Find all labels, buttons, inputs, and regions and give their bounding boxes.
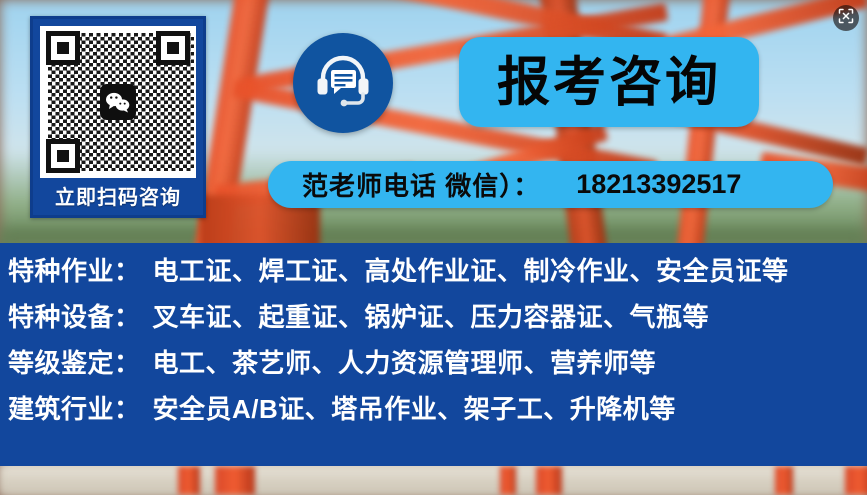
crane-post — [536, 466, 562, 495]
qr-code-image[interactable] — [40, 26, 196, 178]
category-label: 等级鉴定： — [8, 343, 141, 380]
contact-pill[interactable]: 范老师电话 微信）： 18213392517 — [268, 161, 833, 208]
crane-post — [775, 466, 793, 495]
category-label: 特种作业： — [8, 251, 141, 288]
promo-banner: 立即扫码咨询 报考咨询 范老师电话 微信）： 18213392517 — [0, 0, 867, 495]
category-row-special-operations: 特种作业： 电工证、焊工证、高处作业证、制冷作业、安全员证等 — [0, 251, 867, 297]
course-categories-panel: 特种作业： 电工证、焊工证、高处作业证、制冷作业、安全员证等 特种设备： 叉车证… — [0, 243, 867, 466]
qr-code-card[interactable]: 立即扫码咨询 — [30, 16, 206, 218]
crane-post — [845, 466, 867, 495]
contact-phone-number[interactable]: 18213392517 — [576, 169, 741, 200]
qr-card-caption: 立即扫码咨询 — [40, 178, 196, 219]
headset-support-icon — [314, 53, 372, 114]
contact-label: 范老师电话 微信）： — [302, 166, 540, 203]
crane-post — [178, 466, 200, 495]
scan-fullscreen-icon — [838, 8, 854, 29]
qr-finder-icon — [46, 31, 80, 65]
category-row-special-equipment: 特种设备： 叉车证、起重证、锅炉证、压力容器证、气瓶等 — [0, 297, 867, 343]
qr-finder-icon — [156, 31, 190, 65]
crane-post — [215, 466, 255, 495]
category-label: 特种设备： — [8, 297, 141, 334]
support-headset-badge — [293, 33, 393, 133]
category-items: 安全员A/B证、塔吊作业、架子工、升降机等 — [153, 389, 676, 426]
wechat-icon — [100, 84, 136, 120]
page-title: 报考咨询 — [497, 56, 721, 109]
category-items: 电工证、焊工证、高处作业证、制冷作业、安全员证等 — [153, 251, 789, 288]
scan-fullscreen-button[interactable] — [833, 5, 859, 31]
category-row-construction-industry: 建筑行业： 安全员A/B证、塔吊作业、架子工、升降机等 — [0, 389, 867, 435]
title-pill: 报考咨询 — [459, 37, 759, 127]
category-items: 叉车证、起重证、锅炉证、压力容器证、气瓶等 — [153, 297, 710, 334]
bottom-photo-strip — [0, 466, 867, 495]
floor-background — [0, 466, 867, 495]
crane-post — [500, 466, 516, 495]
category-label: 建筑行业： — [8, 389, 141, 426]
category-row-grade-assessment: 等级鉴定： 电工、茶艺师、人力资源管理师、营养师等 — [0, 343, 867, 389]
qr-finder-icon — [46, 139, 80, 173]
category-items: 电工、茶艺师、人力资源管理师、营养师等 — [153, 343, 657, 380]
